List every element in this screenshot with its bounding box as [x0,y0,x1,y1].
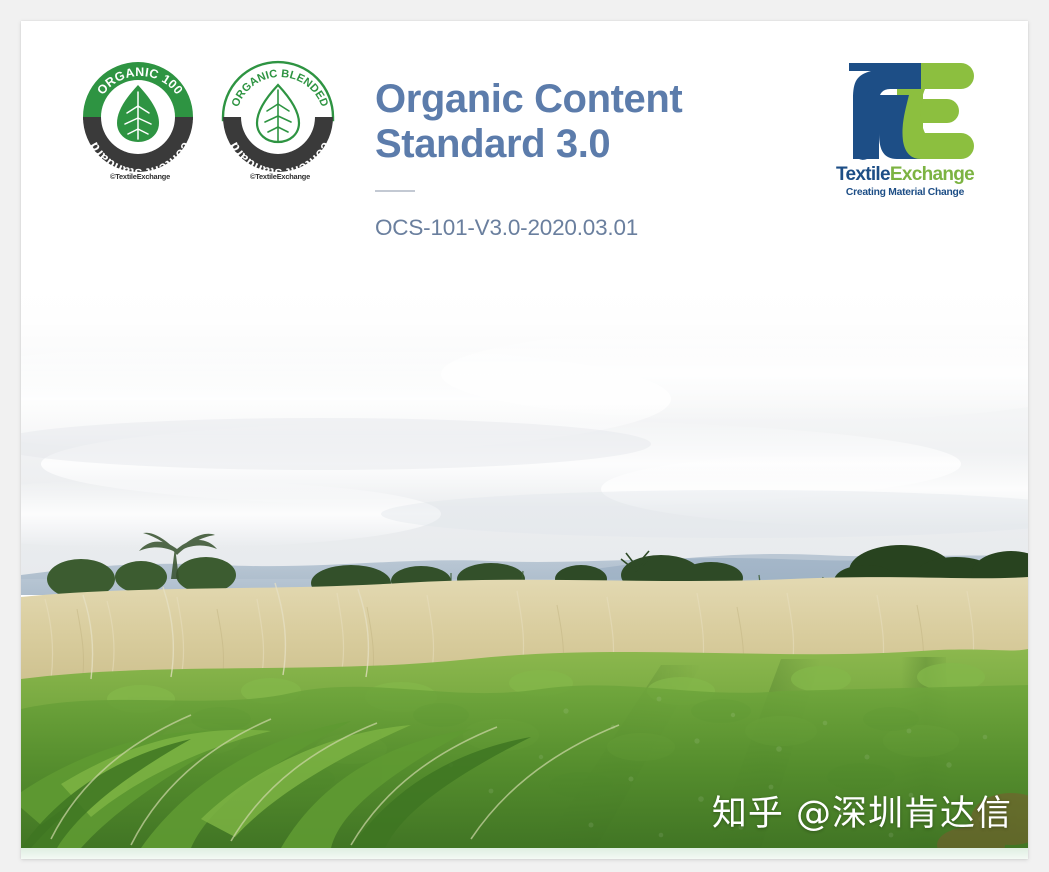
seal-organic-100-graphic: ORGANIC 100 content standard [79,58,201,180]
logo-wordmark-exchange: Exchange [890,164,974,185]
seal-copyright-caption: ©TextileExchange [79,172,201,181]
seal-copyright-caption: ©TextileExchange [219,172,341,181]
document-page-card: ORGANIC 100 content standard ©TextileExc… [21,21,1028,859]
screenshot-viewport: ORGANIC 100 content standard ©TextileExc… [0,0,1049,872]
photo-footer-strip [21,848,1028,859]
zhihu-watermark: 知乎 @深圳肯达信 [712,793,1012,835]
logo-tagline: Creating Material Change [821,187,989,198]
document-code: OCS-101-V3.0-2020.03.01 [375,215,775,241]
title-divider [375,190,415,192]
cover-photograph-graphic [21,279,1028,848]
logo-wordmark: TextileExchange [821,164,989,185]
textile-exchange-mark-icon [835,59,975,163]
seal-organic-blended: ORGANIC BLENDED content standard ©Textil… [219,58,341,180]
page-title: Organic Content Standard 3.0 [375,77,775,167]
cover-photograph [21,279,1028,848]
cover-header: ORGANIC 100 content standard ©TextileExc… [21,21,1028,281]
seal-organic-100: ORGANIC 100 content standard ©TextileExc… [79,58,201,180]
title-block: Organic Content Standard 3.0 OCS-101-V3.… [375,77,775,241]
seal-organic-blended-graphic: ORGANIC BLENDED content standard [219,58,341,180]
textile-exchange-logo: TextileExchange Creating Material Change [821,59,989,198]
logo-wordmark-textile: Textile [836,164,890,185]
